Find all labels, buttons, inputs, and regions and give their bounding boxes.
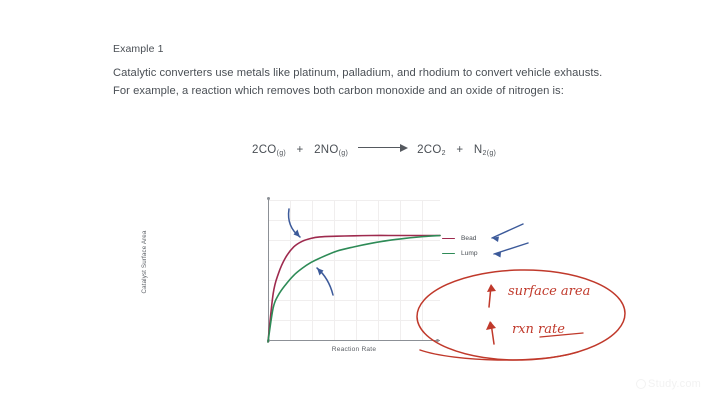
chart-legend: Bead Lump: [442, 231, 478, 261]
coefficient: 2: [314, 144, 321, 156]
legend-swatch-bead: [442, 238, 455, 240]
coefficient: 2: [417, 144, 424, 156]
equation-plus-2: +: [456, 144, 463, 156]
equation-product-2: N2(g): [474, 144, 496, 156]
state-symbol: (g): [487, 150, 496, 157]
arrow-to-legend-lump-icon: [494, 243, 528, 258]
chart-curves: [268, 200, 440, 342]
legend-swatch-lump: [442, 253, 455, 255]
legend-label-bead: Bead: [461, 235, 476, 242]
coefficient: 2: [252, 144, 259, 156]
catalyst-surface-area-chart: Catalyst Surface Area Reaction Rate: [252, 198, 452, 360]
x-axis-label: Reaction Rate: [274, 346, 434, 353]
subscript-state: 2(g): [483, 150, 497, 157]
state-symbol: (g): [339, 150, 348, 157]
watermark-text: Study.com: [648, 378, 701, 390]
page-title: Example 1: [113, 43, 164, 55]
lesson-body-text: Catalytic converters use metals like pla…: [113, 65, 613, 100]
up-arrow-surface-area-icon: [487, 284, 496, 307]
series-line-bead: [268, 235, 440, 342]
formula: CO: [424, 144, 442, 156]
handwritten-rxn-rate-text: rxn rate: [512, 322, 565, 337]
y-axis-label: Catalyst Surface Area: [139, 202, 151, 322]
plot-area: [268, 200, 440, 340]
formula: CO: [259, 144, 277, 156]
legend-item-bead[interactable]: Bead: [442, 231, 478, 246]
formula: NO: [321, 144, 339, 156]
chemical-equation: 2CO(g) + 2NO(g) 2CO2 + N2(g): [252, 143, 496, 157]
legend-item-lump[interactable]: Lump: [442, 246, 478, 261]
arrow-to-legend-bead-icon: [492, 224, 523, 242]
state-symbol: (g): [277, 150, 286, 157]
series-line-lump: [268, 236, 440, 343]
equation-reactant-1: 2CO(g): [252, 144, 286, 156]
copyright-icon: [636, 379, 646, 389]
subscript: 2: [442, 150, 446, 157]
reaction-arrow-icon: [358, 143, 410, 152]
handwritten-surface-area-text: surface area: [508, 284, 590, 299]
formula: N: [474, 144, 483, 156]
equation-plus-1: +: [297, 144, 304, 156]
equation-product-1: 2CO2: [417, 144, 446, 156]
legend-label-lump: Lump: [461, 250, 478, 257]
watermark: Study.com: [636, 378, 701, 390]
equation-reactant-2: 2NO(g): [314, 144, 348, 156]
up-arrow-rxn-rate-icon: [486, 321, 496, 344]
